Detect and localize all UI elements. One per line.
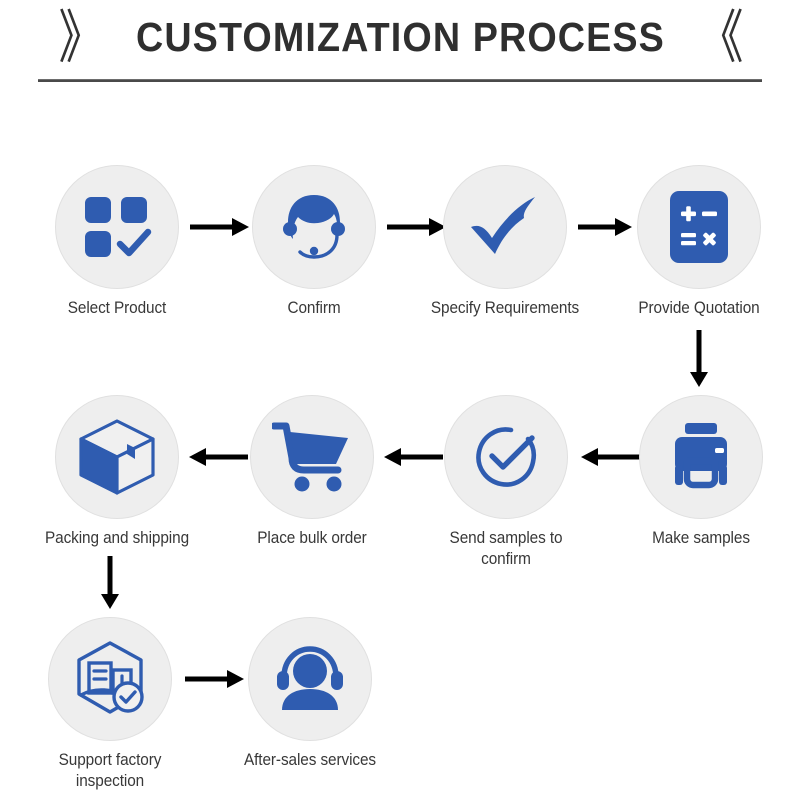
calculator-icon	[668, 189, 730, 265]
flow-step-after-sales-services[interactable]: After-sales services	[225, 617, 395, 771]
step-label: Confirm	[235, 298, 393, 319]
flow-step-specify-requirements[interactable]: Specify Requirements	[420, 165, 590, 319]
step-icon-circle	[48, 617, 172, 741]
package-box-icon	[77, 418, 157, 496]
flow-step-make-samples[interactable]: Make samples	[616, 395, 786, 549]
flow-step-place-bulk-order[interactable]: Place bulk order	[227, 395, 397, 549]
step-icon-circle	[443, 165, 567, 289]
flow-step-send-samples-to-confirm[interactable]: Send samples to confirm	[421, 395, 591, 570]
connector-arrow-down-2	[97, 556, 123, 610]
page-header: 》 CUSTOMIZATION PROCESS 《	[0, 0, 800, 96]
flow-step-confirm[interactable]: Confirm	[229, 165, 399, 319]
step-icon-circle	[637, 165, 761, 289]
factory-shield-check-icon	[69, 639, 151, 719]
step-label: After-sales services	[231, 750, 389, 771]
page-title: CUSTOMIZATION PROCESS	[136, 14, 665, 60]
connector-arrow-down-1	[686, 330, 712, 388]
step-icon-circle	[250, 395, 374, 519]
step-label: Select Product	[38, 298, 196, 319]
printer-icon	[663, 421, 739, 493]
shopping-cart-icon	[272, 420, 352, 494]
circle-check-icon	[466, 417, 546, 497]
grid-squares-check-icon	[81, 193, 153, 261]
step-icon-circle	[55, 165, 179, 289]
flow-step-packing-and-shipping[interactable]: Packing and shipping	[32, 395, 202, 549]
step-label: Make samples	[622, 528, 780, 549]
support-person-icon	[272, 644, 348, 714]
flow-step-provide-quotation[interactable]: Provide Quotation	[614, 165, 784, 319]
double-chevron-left-icon: 《	[697, 8, 741, 66]
flow-step-select-product[interactable]: Select Product	[32, 165, 202, 319]
title-row: 》 CUSTOMIZATION PROCESS 《	[0, 6, 800, 68]
step-icon-circle	[252, 165, 376, 289]
step-icon-circle	[444, 395, 568, 519]
step-label: Place bulk order	[233, 528, 391, 549]
step-label: Provide Quotation	[620, 298, 778, 319]
step-icon-circle	[55, 395, 179, 519]
checkmark-icon	[465, 191, 545, 263]
step-label: Send samples to confirm	[427, 528, 585, 570]
headset-agent-icon	[276, 189, 352, 265]
title-divider	[38, 79, 762, 82]
step-label: Specify Requirements	[426, 298, 584, 319]
flow-step-support-factory-inspection[interactable]: Support factory inspection	[25, 617, 195, 792]
step-label: Support factory inspection	[31, 750, 189, 792]
step-icon-circle	[639, 395, 763, 519]
step-icon-circle	[248, 617, 372, 741]
double-chevron-right-icon: 》	[59, 8, 103, 66]
step-label: Packing and shipping	[38, 528, 196, 549]
